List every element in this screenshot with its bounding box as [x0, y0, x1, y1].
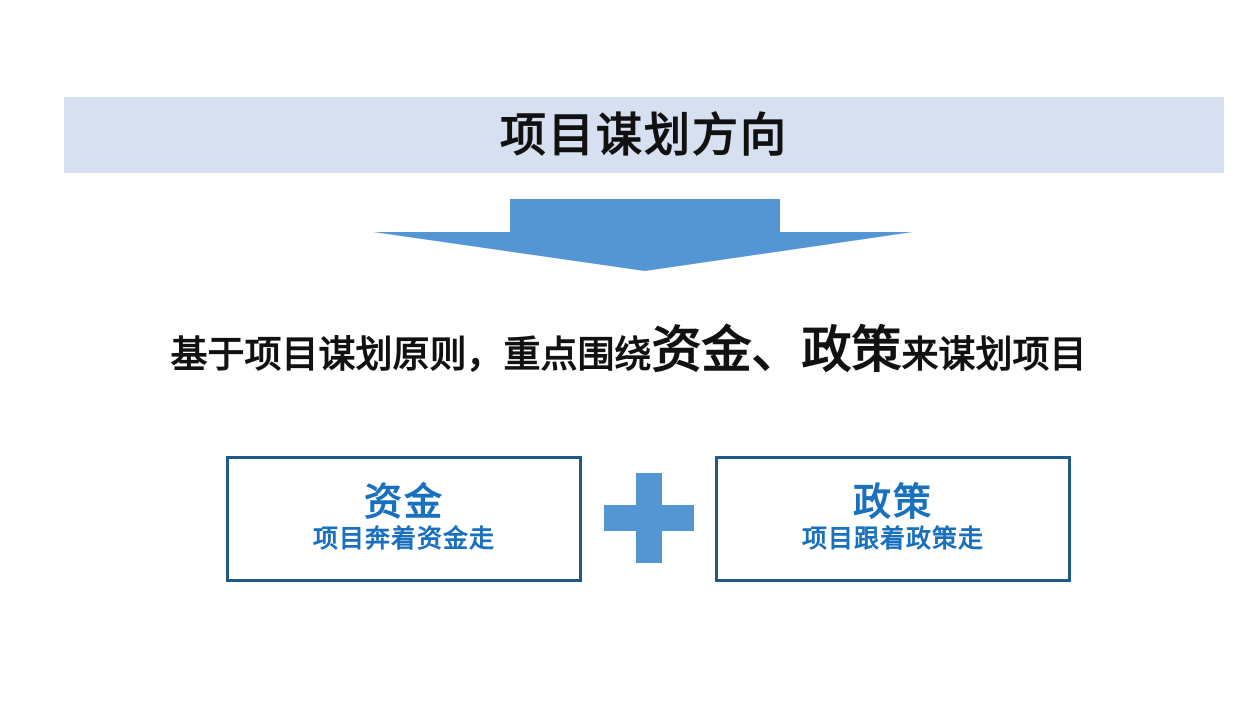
statement-emphasis: 资金、政策	[652, 322, 902, 378]
statement-line: 基于项目谋划原则，重点围绕资金、政策来谋划项目	[0, 325, 1257, 375]
statement-prefix: 基于项目谋划原则，重点围绕	[171, 334, 652, 375]
pillar-box-funding[interactable]: 资金 项目奔着资金走	[226, 456, 582, 582]
plus-icon	[604, 473, 694, 563]
down-arrow-icon	[373, 199, 913, 271]
title-band: 项目谋划方向	[64, 97, 1224, 173]
pillar-title: 资金	[364, 484, 444, 524]
slide-canvas: 项目谋划方向 基于项目谋划原则，重点围绕资金、政策来谋划项目 资金 项目奔着资金…	[0, 0, 1257, 716]
page-title: 项目谋划方向	[500, 112, 788, 158]
pillar-subtitle: 项目奔着资金走	[313, 526, 495, 554]
pillar-box-policy[interactable]: 政策 项目跟着政策走	[715, 456, 1071, 582]
pillars-group: 资金 项目奔着资金走 政策 项目跟着政策走	[226, 456, 1066, 582]
statement-suffix: 来谋划项目	[902, 334, 1087, 375]
pillar-subtitle: 项目跟着政策走	[802, 526, 984, 554]
pillar-title: 政策	[853, 484, 933, 524]
